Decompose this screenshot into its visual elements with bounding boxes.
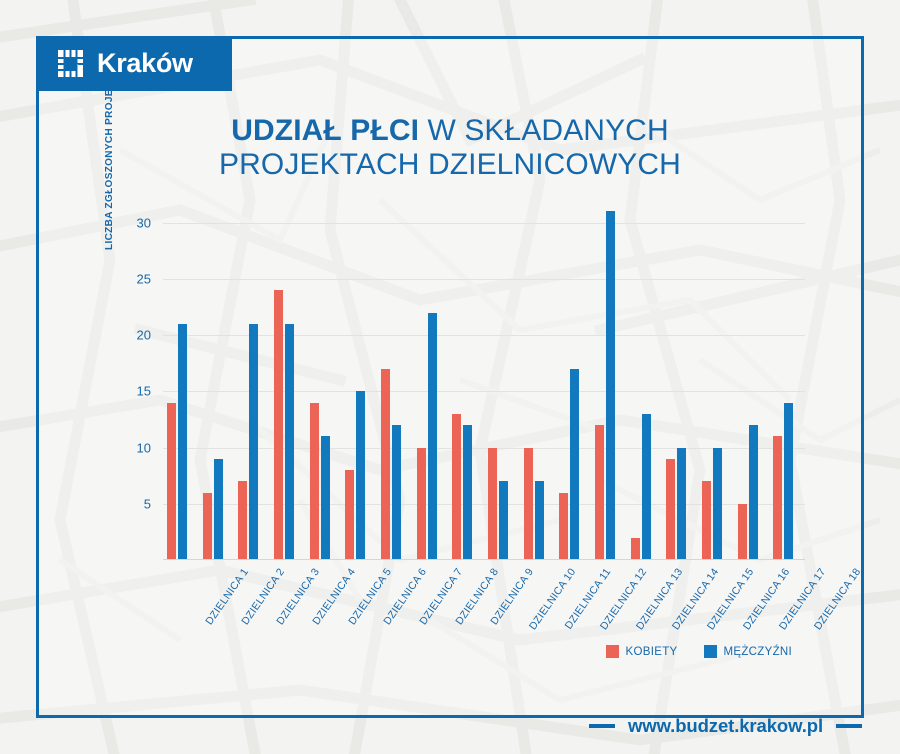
bar-group: [666, 200, 696, 560]
bar-mezczyzni: [713, 448, 722, 561]
bar-group: [310, 200, 340, 560]
bar-group: [738, 200, 768, 560]
bar-mezczyzni: [249, 324, 258, 560]
bar-kobiety: [595, 425, 604, 560]
y-tick-label: 30: [105, 215, 151, 230]
footer-dash-left-icon: [589, 724, 615, 728]
y-tick-label: 15: [105, 384, 151, 399]
bar-mezczyzni: [499, 481, 508, 560]
bar-group: [203, 200, 233, 560]
footer-dash-right-icon: [836, 724, 862, 728]
bar-kobiety: [167, 403, 176, 561]
legend-label: KOBIETY: [626, 646, 678, 658]
bar-kobiety: [559, 493, 568, 561]
bar-kobiety: [345, 470, 354, 560]
bar-kobiety: [310, 403, 319, 561]
title-line-2: PROJEKTACH DZIELNICOWYCH: [0, 148, 900, 182]
bar-kobiety: [738, 504, 747, 560]
bar-mezczyzni: [392, 425, 401, 560]
bar-mezczyzni: [178, 324, 187, 560]
bar-mezczyzni: [535, 481, 544, 560]
y-tick-label: 25: [105, 271, 151, 286]
bar-group: [524, 200, 554, 560]
bar-mezczyzni: [214, 459, 223, 560]
krakow-logo: Kraków: [36, 36, 232, 91]
bar-kobiety: [203, 493, 212, 561]
logo-text: Kraków: [97, 50, 193, 77]
bar-kobiety: [631, 538, 640, 561]
title-rest: W SKŁADANYCH: [419, 114, 669, 147]
bar-chart: LICZBA ZGŁOSZONYCH PROJEKTÓW 51015202530: [105, 200, 805, 560]
bar-mezczyzni: [321, 436, 330, 560]
bar-mezczyzni: [749, 425, 758, 560]
plot-area: [163, 200, 805, 560]
y-tick-label: 10: [105, 440, 151, 455]
bar-kobiety: [702, 481, 711, 560]
bar-kobiety: [381, 369, 390, 560]
bar-kobiety: [666, 459, 675, 560]
bar-kobiety: [773, 436, 782, 560]
bar-mezczyzni: [606, 211, 615, 560]
bar-group: [595, 200, 625, 560]
chart-legend: KOBIETYMĘŻCZYŹNI: [606, 645, 792, 658]
title-emphasis: UDZIAŁ PŁCI: [231, 114, 419, 147]
y-tick-label: 5: [105, 496, 151, 511]
bar-group: [773, 200, 803, 560]
bar-mezczyzni: [285, 324, 294, 560]
x-axis-line: [163, 559, 805, 560]
krakow-city-wall-icon: [58, 50, 86, 78]
bar-mezczyzni: [677, 448, 686, 561]
bar-group: [488, 200, 518, 560]
bar-group: [381, 200, 411, 560]
bar-group: [452, 200, 482, 560]
footer-url[interactable]: www.budzet.krakow.pl: [628, 715, 823, 737]
legend-label: MĘŻCZYŹNI: [724, 646, 793, 658]
bar-group: [417, 200, 447, 560]
bar-group: [238, 200, 268, 560]
page-title: UDZIAŁ PŁCI W SKŁADANYCH PROJEKTACH DZIE…: [0, 114, 900, 182]
footer: www.budzet.krakow.pl: [0, 715, 900, 737]
bar-mezczyzni: [642, 414, 651, 560]
bar-mezczyzni: [463, 425, 472, 560]
bar-group: [631, 200, 661, 560]
bar-mezczyzni: [784, 403, 793, 561]
legend-swatch-icon: [606, 645, 619, 658]
bar-group: [559, 200, 589, 560]
legend-swatch-icon: [704, 645, 717, 658]
bar-mezczyzni: [570, 369, 579, 560]
legend-item-kobiety[interactable]: KOBIETY: [606, 645, 678, 658]
bar-mezczyzni: [428, 313, 437, 561]
bar-kobiety: [488, 448, 497, 561]
bar-group: [702, 200, 732, 560]
bar-kobiety: [274, 290, 283, 560]
bar-kobiety: [452, 414, 461, 560]
bar-group: [167, 200, 197, 560]
bar-mezczyzni: [356, 391, 365, 560]
bar-group: [345, 200, 375, 560]
legend-item-mezczyzni[interactable]: MĘŻCZYŹNI: [704, 645, 793, 658]
bar-group: [274, 200, 304, 560]
bar-kobiety: [417, 448, 426, 561]
bar-kobiety: [524, 448, 533, 561]
bar-kobiety: [238, 481, 247, 560]
y-tick-label: 20: [105, 328, 151, 343]
